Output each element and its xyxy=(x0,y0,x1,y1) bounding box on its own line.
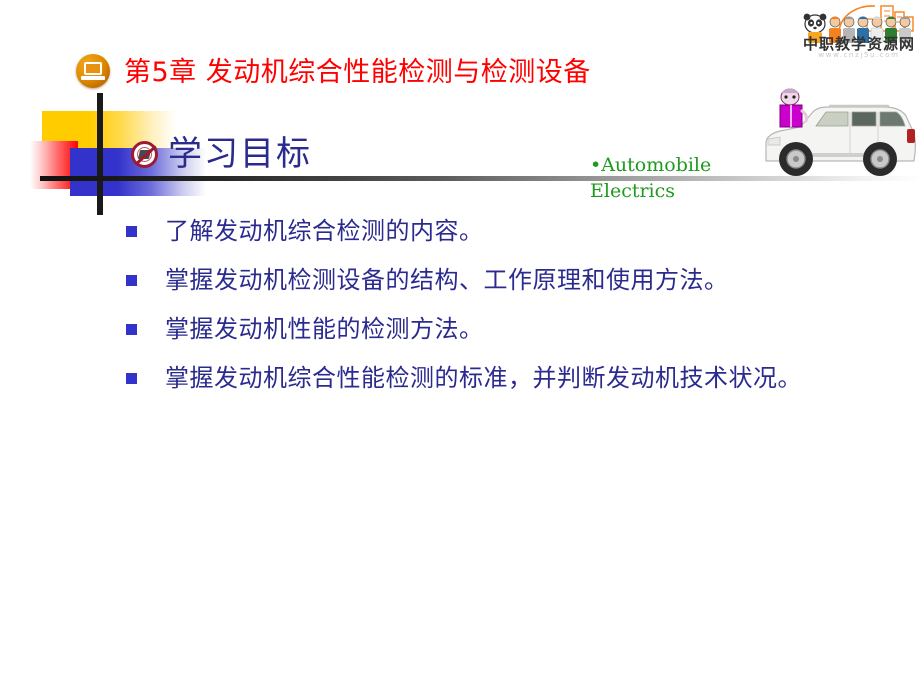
list-item: 掌握发动机检测设备的结构、工作原理和使用方法。 xyxy=(126,261,886,300)
list-item-label: 掌握发动机综合性能检测的标准，并判断发动机技术状况。 xyxy=(165,359,886,398)
logo-site-name: 中职教学资源网 xyxy=(803,37,915,52)
slide-canvas: 第5章 发动机综合性能检测与检测设备 xyxy=(0,0,920,690)
deco-blue-square xyxy=(70,148,118,196)
white-suv-icon xyxy=(760,85,920,197)
bullet-square-icon xyxy=(126,324,137,335)
site-logo: 中职教学资源网 www.cnzj5u.com xyxy=(799,1,917,59)
list-item: 掌握发动机性能的检测方法。 xyxy=(126,310,886,349)
monitor-screen-shape xyxy=(84,62,102,75)
monitor-base-shape xyxy=(81,76,105,80)
list-item-label: 掌握发动机性能的检测方法。 xyxy=(165,310,886,349)
monitor-badge-icon xyxy=(76,54,110,88)
bullet-square-icon xyxy=(126,275,137,286)
deco-vertical-rule xyxy=(97,93,103,215)
no-entry-stamp-icon xyxy=(131,141,158,168)
list-item: 掌握发动机综合性能检测的标准，并判断发动机技术状况。 xyxy=(126,359,886,398)
list-item-label: 掌握发动机检测设备的结构、工作原理和使用方法。 xyxy=(165,261,886,300)
bullet-square-icon xyxy=(126,226,137,237)
bullet-square-icon xyxy=(126,373,137,384)
list-item: 了解发动机综合检测的内容。 xyxy=(126,212,886,251)
list-item-label: 了解发动机综合检测的内容。 xyxy=(165,212,886,251)
page-title: 第5章 发动机综合性能检测与检测设备 xyxy=(124,50,591,89)
reading-mascot-icon xyxy=(780,89,807,128)
section-heading: 学习目标 xyxy=(168,126,312,175)
objectives-list: 了解发动机综合检测的内容。 掌握发动机检测设备的结构、工作原理和使用方法。 掌握… xyxy=(126,212,886,408)
logo-site-url: www.cnzj5u.com xyxy=(803,51,915,59)
slide-title-row: 第5章 发动机综合性能检测与检测设备 xyxy=(0,22,790,72)
